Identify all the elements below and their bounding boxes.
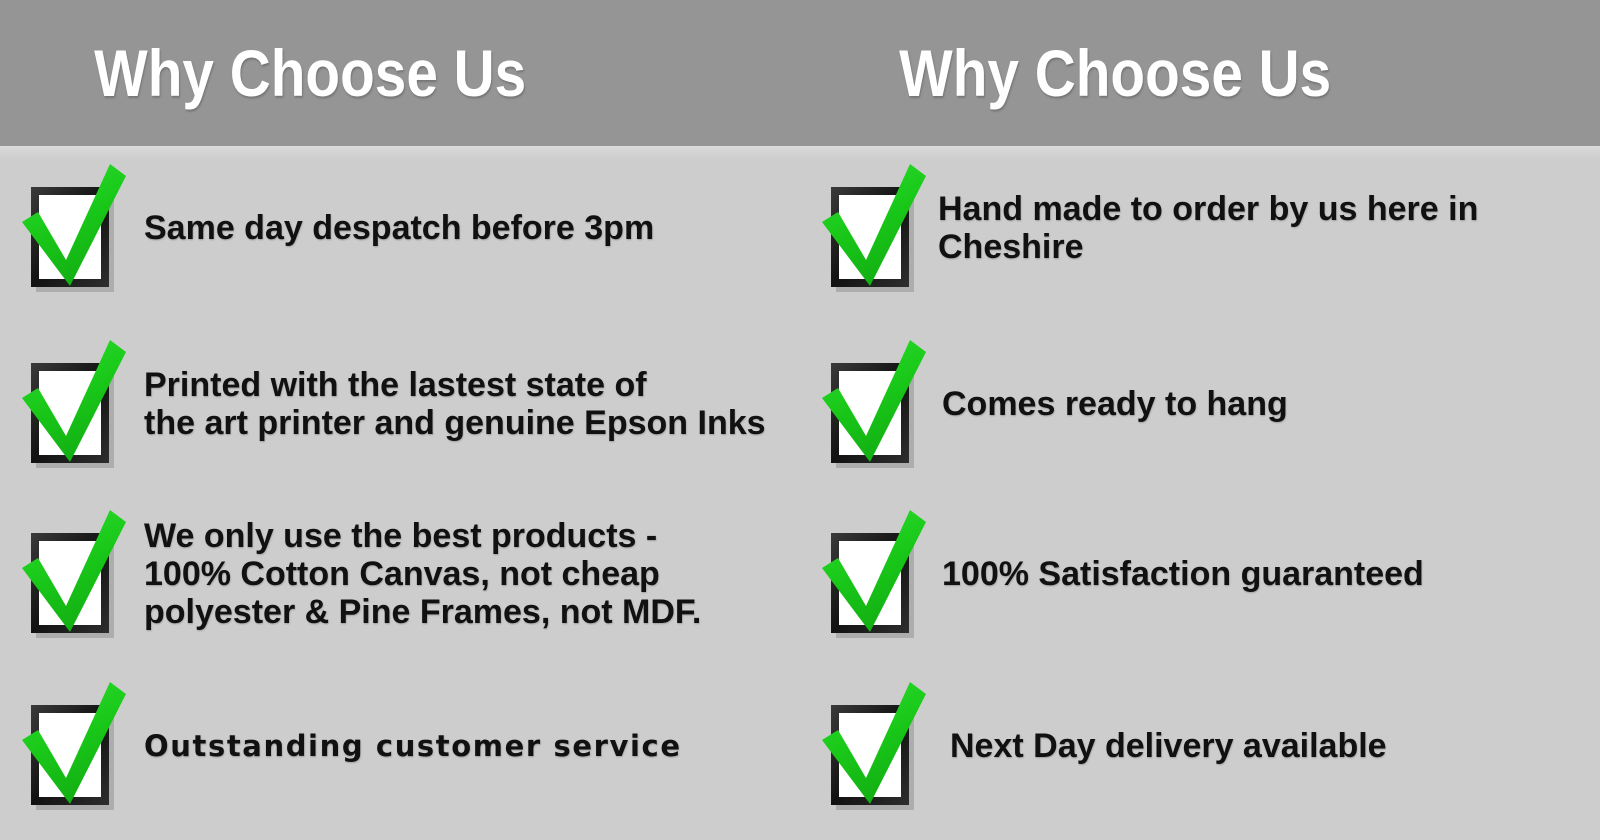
list-item: We only use the best products - 100% Cot… <box>14 508 701 640</box>
check-box-icon <box>14 338 120 470</box>
header-divider-strip <box>0 146 1600 160</box>
check-box-icon <box>814 338 920 470</box>
list-item: Outstanding customer service <box>14 680 682 812</box>
list-item: Comes ready to hang <box>814 338 1288 470</box>
list-item: 100% Satisfaction guaranteed <box>814 508 1424 640</box>
page-title-right: Why Choose Us <box>899 40 1331 106</box>
why-choose-us-banner: Why Choose Us Why Choose Us <box>0 0 1600 840</box>
feature-column-right: Hand made to order by us here in Cheshir… <box>800 160 1600 840</box>
header-band: Why Choose Us Why Choose Us <box>0 0 1600 146</box>
list-item: Next Day delivery available <box>814 680 1387 812</box>
features-area: Same day despatch before 3pm <box>0 160 1600 840</box>
header-cell-left: Why Choose Us <box>0 0 800 146</box>
check-box-icon <box>14 680 120 812</box>
feature-label: We only use the best products - 100% Cot… <box>144 517 701 631</box>
check-box-icon <box>14 508 120 640</box>
list-item: Hand made to order by us here in Cheshir… <box>814 162 1478 294</box>
feature-label: Same day despatch before 3pm <box>144 209 654 247</box>
header-cell-right: Why Choose Us <box>800 0 1600 146</box>
check-box-icon <box>814 162 920 294</box>
feature-label: Comes ready to hang <box>942 385 1288 423</box>
list-item: Same day despatch before 3pm <box>14 162 654 294</box>
feature-column-left: Same day despatch before 3pm <box>0 160 800 840</box>
feature-label: Hand made to order by us here in Cheshir… <box>938 190 1478 266</box>
check-box-icon <box>14 162 120 294</box>
list-item: Printed with the lastest state of the ar… <box>14 338 766 470</box>
feature-label: Printed with the lastest state of the ar… <box>144 366 766 442</box>
feature-label: Next Day delivery available <box>950 727 1387 765</box>
check-box-icon <box>814 508 920 640</box>
feature-label: 100% Satisfaction guaranteed <box>942 555 1424 593</box>
page-title-left: Why Choose Us <box>94 40 526 106</box>
feature-label: Outstanding customer service <box>144 730 682 762</box>
check-box-icon <box>814 680 920 812</box>
